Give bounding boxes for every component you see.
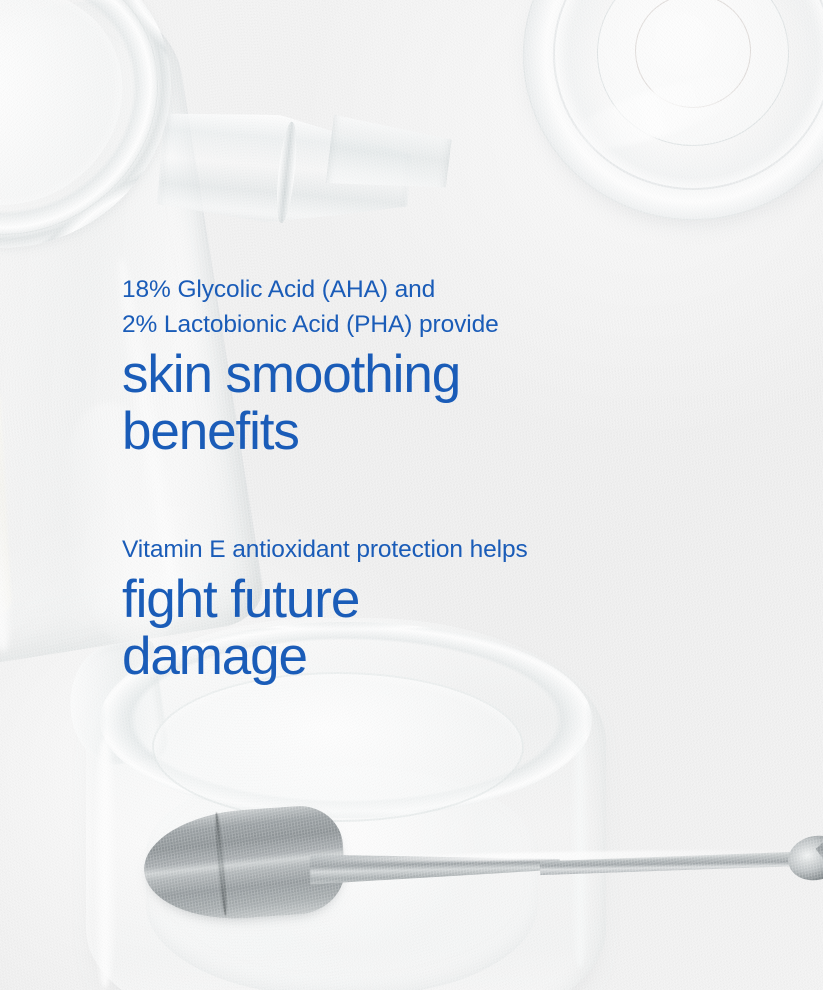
beaker-wall-highlight-left	[92, 738, 118, 988]
copy-block-2-headline: fight future damage	[122, 571, 762, 685]
metal-spatula	[140, 800, 823, 930]
spatula-neck	[310, 841, 561, 890]
copy-block-1-headline: skin smoothing benefits	[122, 346, 762, 460]
kicker-line: 2% Lactobionic Acid (PHA) provide	[122, 307, 762, 342]
copy-block-1: 18% Glycolic Acid (AHA) and 2% Lactobion…	[122, 272, 762, 460]
copy-block-2-kicker: Vitamin E antioxidant protection helps	[122, 532, 762, 567]
marketing-copy: 18% Glycolic Acid (AHA) and 2% Lactobion…	[122, 272, 762, 685]
copy-block-2: Vitamin E antioxidant protection helps f…	[122, 532, 762, 685]
glass-dish-top-right	[523, 0, 823, 220]
spatula-knuckle	[784, 831, 823, 886]
headline-line: skin smoothing	[122, 346, 762, 403]
product-benefits-panel: 18% Glycolic Acid (AHA) and 2% Lactobion…	[0, 0, 823, 990]
headline-line: fight future	[122, 571, 762, 628]
headline-line: benefits	[122, 403, 762, 460]
kicker-line: 18% Glycolic Acid (AHA) and	[122, 272, 762, 307]
copy-block-1-kicker: 18% Glycolic Acid (AHA) and 2% Lactobion…	[122, 272, 762, 342]
headline-line: damage	[122, 628, 762, 685]
kicker-line: Vitamin E antioxidant protection helps	[122, 532, 762, 567]
